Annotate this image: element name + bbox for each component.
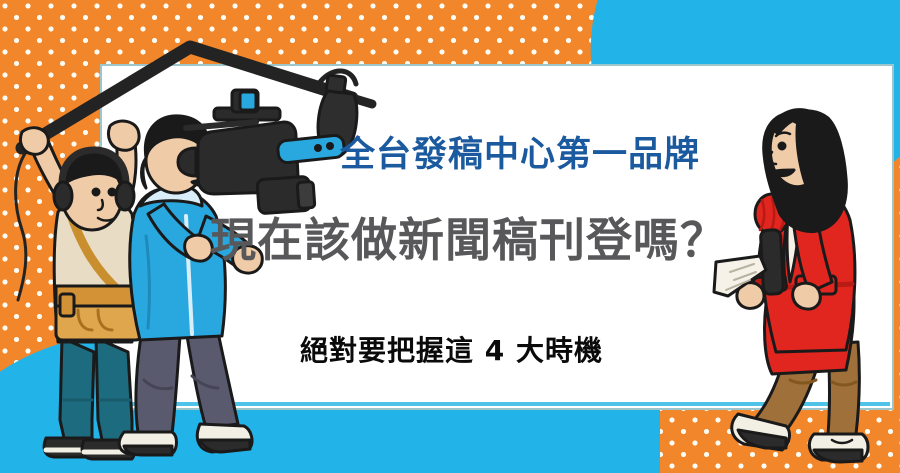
banner-image: 全台發稿中心第一品牌 現在該做新聞稿刊登嗎？ 絕對要把握這 4 大時機 (0, 0, 900, 473)
subtitle-text: 絕對要把握這 4 大時機 (300, 334, 820, 368)
page-title: 現在該做新聞稿刊登嗎？ (210, 214, 810, 267)
text-layer: 全台發稿中心第一品牌 現在該做新聞稿刊登嗎？ 絕對要把握這 4 大時機 (0, 0, 900, 473)
headline-text: 全台發稿中心第一品牌 (340, 135, 860, 175)
